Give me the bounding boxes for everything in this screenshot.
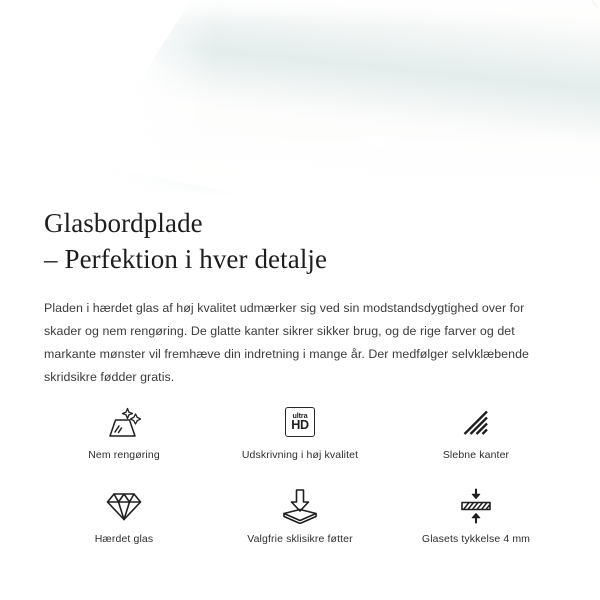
hero-image [0, 0, 600, 205]
hd-badge-large-text: HD [291, 419, 309, 432]
copy-block: Glasbordplade – Perfektion i hver detalj… [44, 205, 564, 389]
feature-item-tempered-glass: Hærdet glas [36, 484, 212, 568]
feature-label: Udskrivning i høj kvalitet [242, 448, 358, 462]
feature-item-thickness: Glasets tykkelse 4 mm [388, 484, 564, 568]
product-description: Pladen i hærdet glas af høj kvalitet udm… [44, 297, 549, 389]
product-feature-page: Glasbordplade – Perfektion i hver detalj… [0, 0, 600, 600]
page-title: Glasbordplade – Perfektion i hver detalj… [44, 205, 564, 277]
feature-label: Nem rengøring [88, 448, 160, 462]
feature-grid: Nem rengøring ultra HD Udskrivning i høj… [36, 400, 564, 568]
glass-slab [70, 0, 600, 205]
thickness-arrows-icon [456, 484, 496, 528]
feature-item-easy-cleaning: Nem rengøring [36, 400, 212, 484]
glass-top-face [86, 0, 600, 205]
hd-badge-box: ultra HD [285, 407, 315, 437]
sparkle-plate-icon [104, 400, 144, 444]
feature-label: Valgfrie sklisikre føtter [247, 532, 353, 546]
feature-label: Slebne kanter [443, 448, 509, 462]
feature-item-hd-print: ultra HD Udskrivning i høj kvalitet [212, 400, 388, 484]
feature-item-anti-slip-feet: Valgfrie sklisikre føtter [212, 484, 388, 568]
feature-label: Hærdet glas [95, 532, 154, 546]
diamond-icon [105, 484, 143, 528]
feature-item-polished-edges: Slebne kanter [388, 400, 564, 484]
polished-edge-icon [459, 400, 493, 444]
feature-label: Glasets tykkelse 4 mm [422, 532, 530, 546]
anti-slip-pad-icon [280, 484, 320, 528]
ultra-hd-badge-icon: ultra HD [285, 400, 315, 444]
gold-marble-veins-icon [86, 0, 600, 205]
